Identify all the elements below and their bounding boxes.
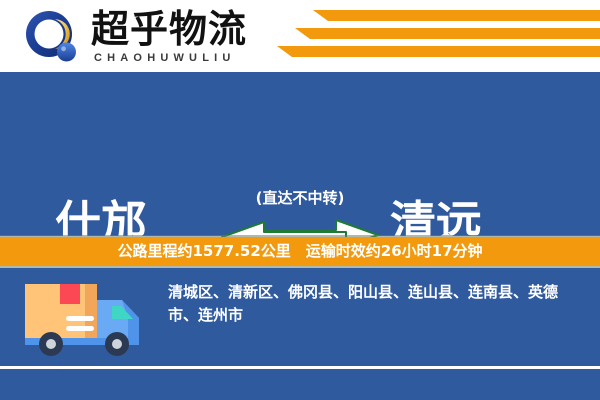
coverage-area-list: 清城区、清新区、佛冈县、阳山县、连山县、连南县、英德市、连州市	[168, 281, 580, 327]
header-bar: 超乎物流 CHAOHUWULIU	[0, 0, 600, 72]
brand-name-cn: 超乎物流	[91, 8, 247, 50]
stripe-1	[328, 10, 600, 21]
delivery-truck-icon	[22, 278, 152, 362]
brand-logo[interactable]: 超乎物流 CHAOHUWULIU	[25, 8, 275, 66]
info-bar: 公路里程约1577.52公里 运输时效约26小时17分钟	[0, 237, 600, 266]
decorative-stripes	[270, 6, 600, 66]
route-note-top: (直达不中转)	[220, 189, 380, 207]
circle-swoosh-logo-icon	[25, 10, 81, 66]
stripe-2	[310, 28, 600, 39]
route-panel: 什邡 (直达不中转) 【往返运输】 清远	[0, 72, 600, 236]
logistics-route-banner: 超乎物流 CHAOHUWULIU 什邡 (直达不中转) 【往返运输】 清远 公路…	[0, 0, 600, 400]
footer-bar	[0, 369, 600, 400]
brand-name-en: CHAOHUWULIU	[94, 52, 236, 64]
stripe-3	[292, 46, 600, 57]
info-bar-text: 公路里程约1577.52公里 运输时效约26小时17分钟	[0, 237, 600, 266]
